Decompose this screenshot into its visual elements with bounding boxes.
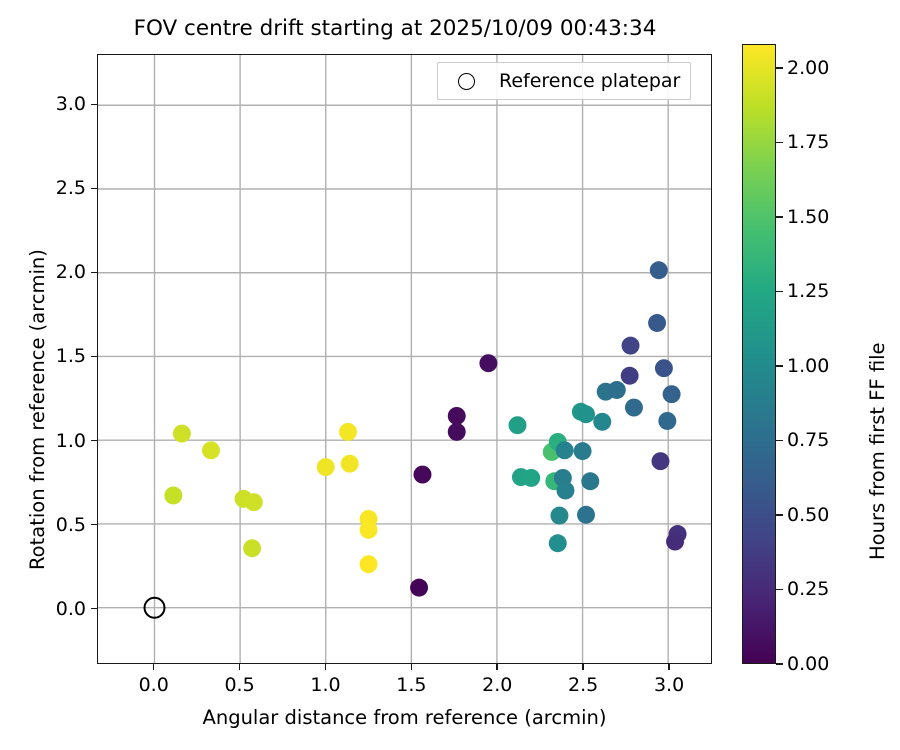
- x-tick-mark: [239, 664, 241, 670]
- colorbar-tick-mark: [776, 365, 783, 367]
- scatter-point: [414, 466, 432, 484]
- scatter-point: [581, 472, 599, 490]
- scatter-point: [550, 507, 568, 525]
- scatter-point: [574, 442, 592, 460]
- scatter-point: [663, 385, 681, 403]
- x-tick-mark: [411, 664, 413, 670]
- colorbar-tick-mark: [776, 67, 783, 69]
- scatter-point: [164, 487, 182, 505]
- scatter-point: [648, 314, 666, 332]
- scatter-point: [556, 482, 574, 500]
- scatter-point: [549, 534, 567, 552]
- scatter-point: [360, 521, 378, 539]
- scatter-point: [448, 407, 466, 425]
- scatter-point: [658, 412, 676, 430]
- x-tick-mark: [496, 664, 498, 670]
- scatter-point: [360, 555, 378, 573]
- y-tick-mark: [91, 356, 97, 358]
- colorbar-tick-mark: [776, 589, 783, 591]
- legend-reference-platepar-icon: [458, 73, 475, 90]
- x-tick-mark: [325, 664, 327, 670]
- scatter-point: [621, 367, 639, 385]
- scatter-point: [341, 455, 359, 473]
- x-axis-label: Angular distance from reference (arcmin): [97, 706, 712, 729]
- x-tick-mark: [153, 664, 155, 670]
- y-tick-label: 3.0: [39, 93, 86, 115]
- y-axis-label: Rotation from reference (arcmin): [26, 249, 49, 570]
- y-tick-mark: [91, 188, 97, 190]
- y-tick-label: 2.5: [39, 177, 86, 199]
- scatter-point: [522, 469, 540, 487]
- scatter-point: [339, 423, 357, 441]
- scatter-point: [593, 413, 611, 431]
- colorbar-tick-label: 2.00: [787, 57, 829, 79]
- colorbar-tick-mark: [776, 514, 783, 516]
- scatter-point: [652, 452, 670, 470]
- scatter-point: [243, 539, 261, 557]
- x-tick-label: 1.0: [310, 674, 340, 696]
- y-tick-mark: [91, 524, 97, 526]
- x-tick-mark: [668, 664, 670, 670]
- scatter-point: [622, 337, 640, 355]
- colorbar-tick-label: 1.75: [787, 131, 829, 153]
- scatter-point: [448, 423, 466, 441]
- y-tick-mark: [91, 608, 97, 610]
- scatter-point: [173, 425, 191, 443]
- colorbar-tick-mark: [776, 216, 783, 218]
- scatter-point: [666, 533, 684, 551]
- scatter-point: [655, 359, 673, 377]
- x-tick-label: 0.5: [224, 674, 254, 696]
- x-tick-label: 3.0: [654, 674, 684, 696]
- y-tick-label: 0.0: [39, 598, 86, 620]
- x-tick-label: 2.5: [568, 674, 598, 696]
- legend-box[interactable]: Reference platepar: [437, 62, 691, 100]
- colorbar-label: Hours from first FF file: [866, 342, 889, 560]
- colorbar-tick-mark: [776, 663, 783, 665]
- scatter-point: [608, 381, 626, 399]
- chart-title: FOV centre drift starting at 2025/10/09 …: [0, 16, 790, 41]
- colorbar-tick-mark: [776, 291, 783, 293]
- scatter-point: [577, 506, 595, 524]
- scatter-point: [202, 441, 220, 459]
- colorbar-tick-label: 1.00: [787, 355, 829, 377]
- x-tick-label: 2.0: [482, 674, 512, 696]
- colorbar-tick-mark: [776, 142, 783, 144]
- colorbar-tick-label: 1.50: [787, 206, 829, 228]
- scatter-plot-svg: [98, 55, 711, 663]
- colorbar-tick-label: 1.25: [787, 280, 829, 302]
- colorbar-tick-mark: [776, 440, 783, 442]
- colorbar-tick-label: 0.75: [787, 429, 829, 451]
- colorbar-tick-label: 0.50: [787, 504, 829, 526]
- scatter-point: [509, 416, 527, 434]
- figure-canvas: FOV centre drift starting at 2025/10/09 …: [0, 0, 900, 750]
- colorbar: 0.000.250.500.751.001.251.501.752.00: [742, 44, 776, 664]
- colorbar-tick-label: 0.00: [787, 653, 829, 675]
- y-tick-mark: [91, 440, 97, 442]
- x-tick-label: 0.0: [139, 674, 169, 696]
- scatter-point: [479, 354, 497, 372]
- colorbar-gradient: [742, 44, 776, 664]
- legend-label-reference-platepar: Reference platepar: [499, 70, 680, 92]
- scatter-point: [556, 441, 574, 459]
- data-points-layer: [164, 261, 686, 596]
- scatter-point: [625, 399, 643, 417]
- scatter-point: [317, 458, 335, 476]
- scatter-point: [410, 579, 428, 597]
- scatter-point: [245, 493, 263, 511]
- scatter-point: [650, 261, 668, 279]
- x-tick-mark: [582, 664, 584, 670]
- plot-axes: [97, 54, 712, 664]
- grid-lines: [98, 55, 711, 663]
- y-tick-mark: [91, 104, 97, 106]
- x-tick-label: 1.5: [396, 674, 426, 696]
- y-tick-mark: [91, 272, 97, 274]
- colorbar-tick-label: 0.25: [787, 578, 829, 600]
- scatter-point: [577, 405, 595, 423]
